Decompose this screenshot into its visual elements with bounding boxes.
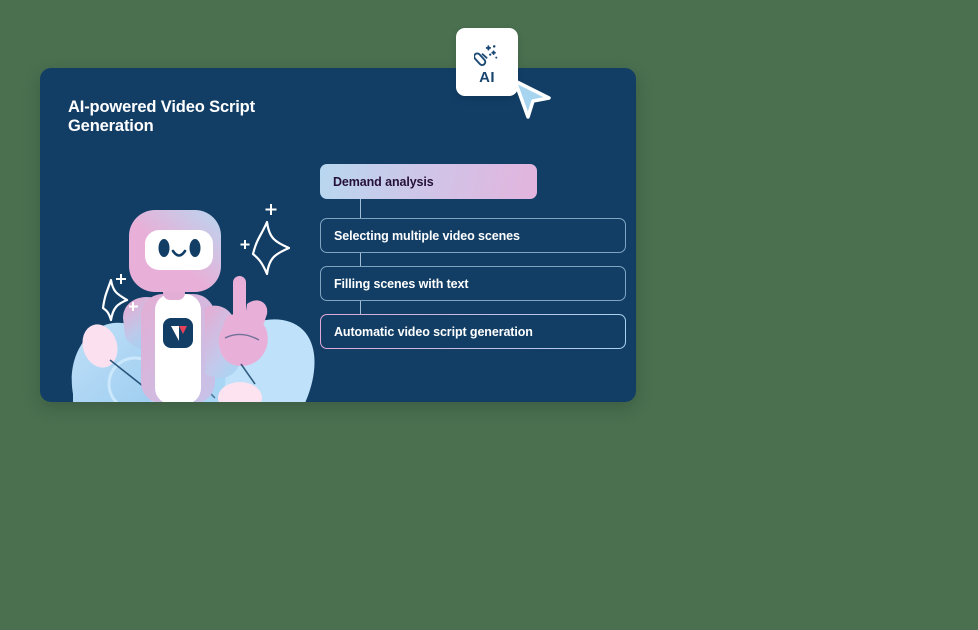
robot-left-arm: [123, 297, 171, 350]
flow-step-label: Filling scenes with text: [321, 277, 468, 291]
flow-step-selecting-scenes[interactable]: Selecting multiple video scenes: [320, 218, 626, 253]
ai-robot-illustration: [55, 198, 335, 402]
robot-right-arm: [205, 276, 268, 384]
robot-eye-left: [159, 239, 170, 257]
sparkle-group-right: [241, 204, 290, 274]
robot-head: [129, 210, 221, 292]
flow-connector: [360, 301, 361, 314]
flow-step-demand-analysis[interactable]: Demand analysis: [320, 164, 537, 199]
flow-step-label: Demand analysis: [320, 175, 434, 189]
robot-smile: [173, 251, 185, 256]
flow-step-label: Automatic video script generation: [321, 325, 533, 339]
flow-step-script-generation[interactable]: Automatic video script generation: [320, 314, 626, 349]
flow-step-label: Selecting multiple video scenes: [321, 229, 520, 243]
flow-connector: [360, 199, 361, 218]
process-flow: Demand analysis Selecting multiple video…: [320, 164, 628, 364]
robot-lower-body: [72, 319, 315, 402]
robot-face-panel: [145, 230, 213, 270]
cursor-arrow-icon: [508, 76, 554, 120]
robot-torso: [141, 282, 215, 402]
page-title: AI-powered Video Script Generation: [68, 98, 328, 137]
flow-step-filling-scenes[interactable]: Filling scenes with text: [320, 266, 626, 301]
flow-connector: [360, 253, 361, 266]
sparkle-group-left: [103, 274, 138, 320]
magic-wand-icon: [474, 42, 500, 68]
robot-eye-right: [190, 239, 201, 257]
robot-chest-badge: [163, 318, 193, 348]
ai-badge-label: AI: [479, 70, 495, 85]
